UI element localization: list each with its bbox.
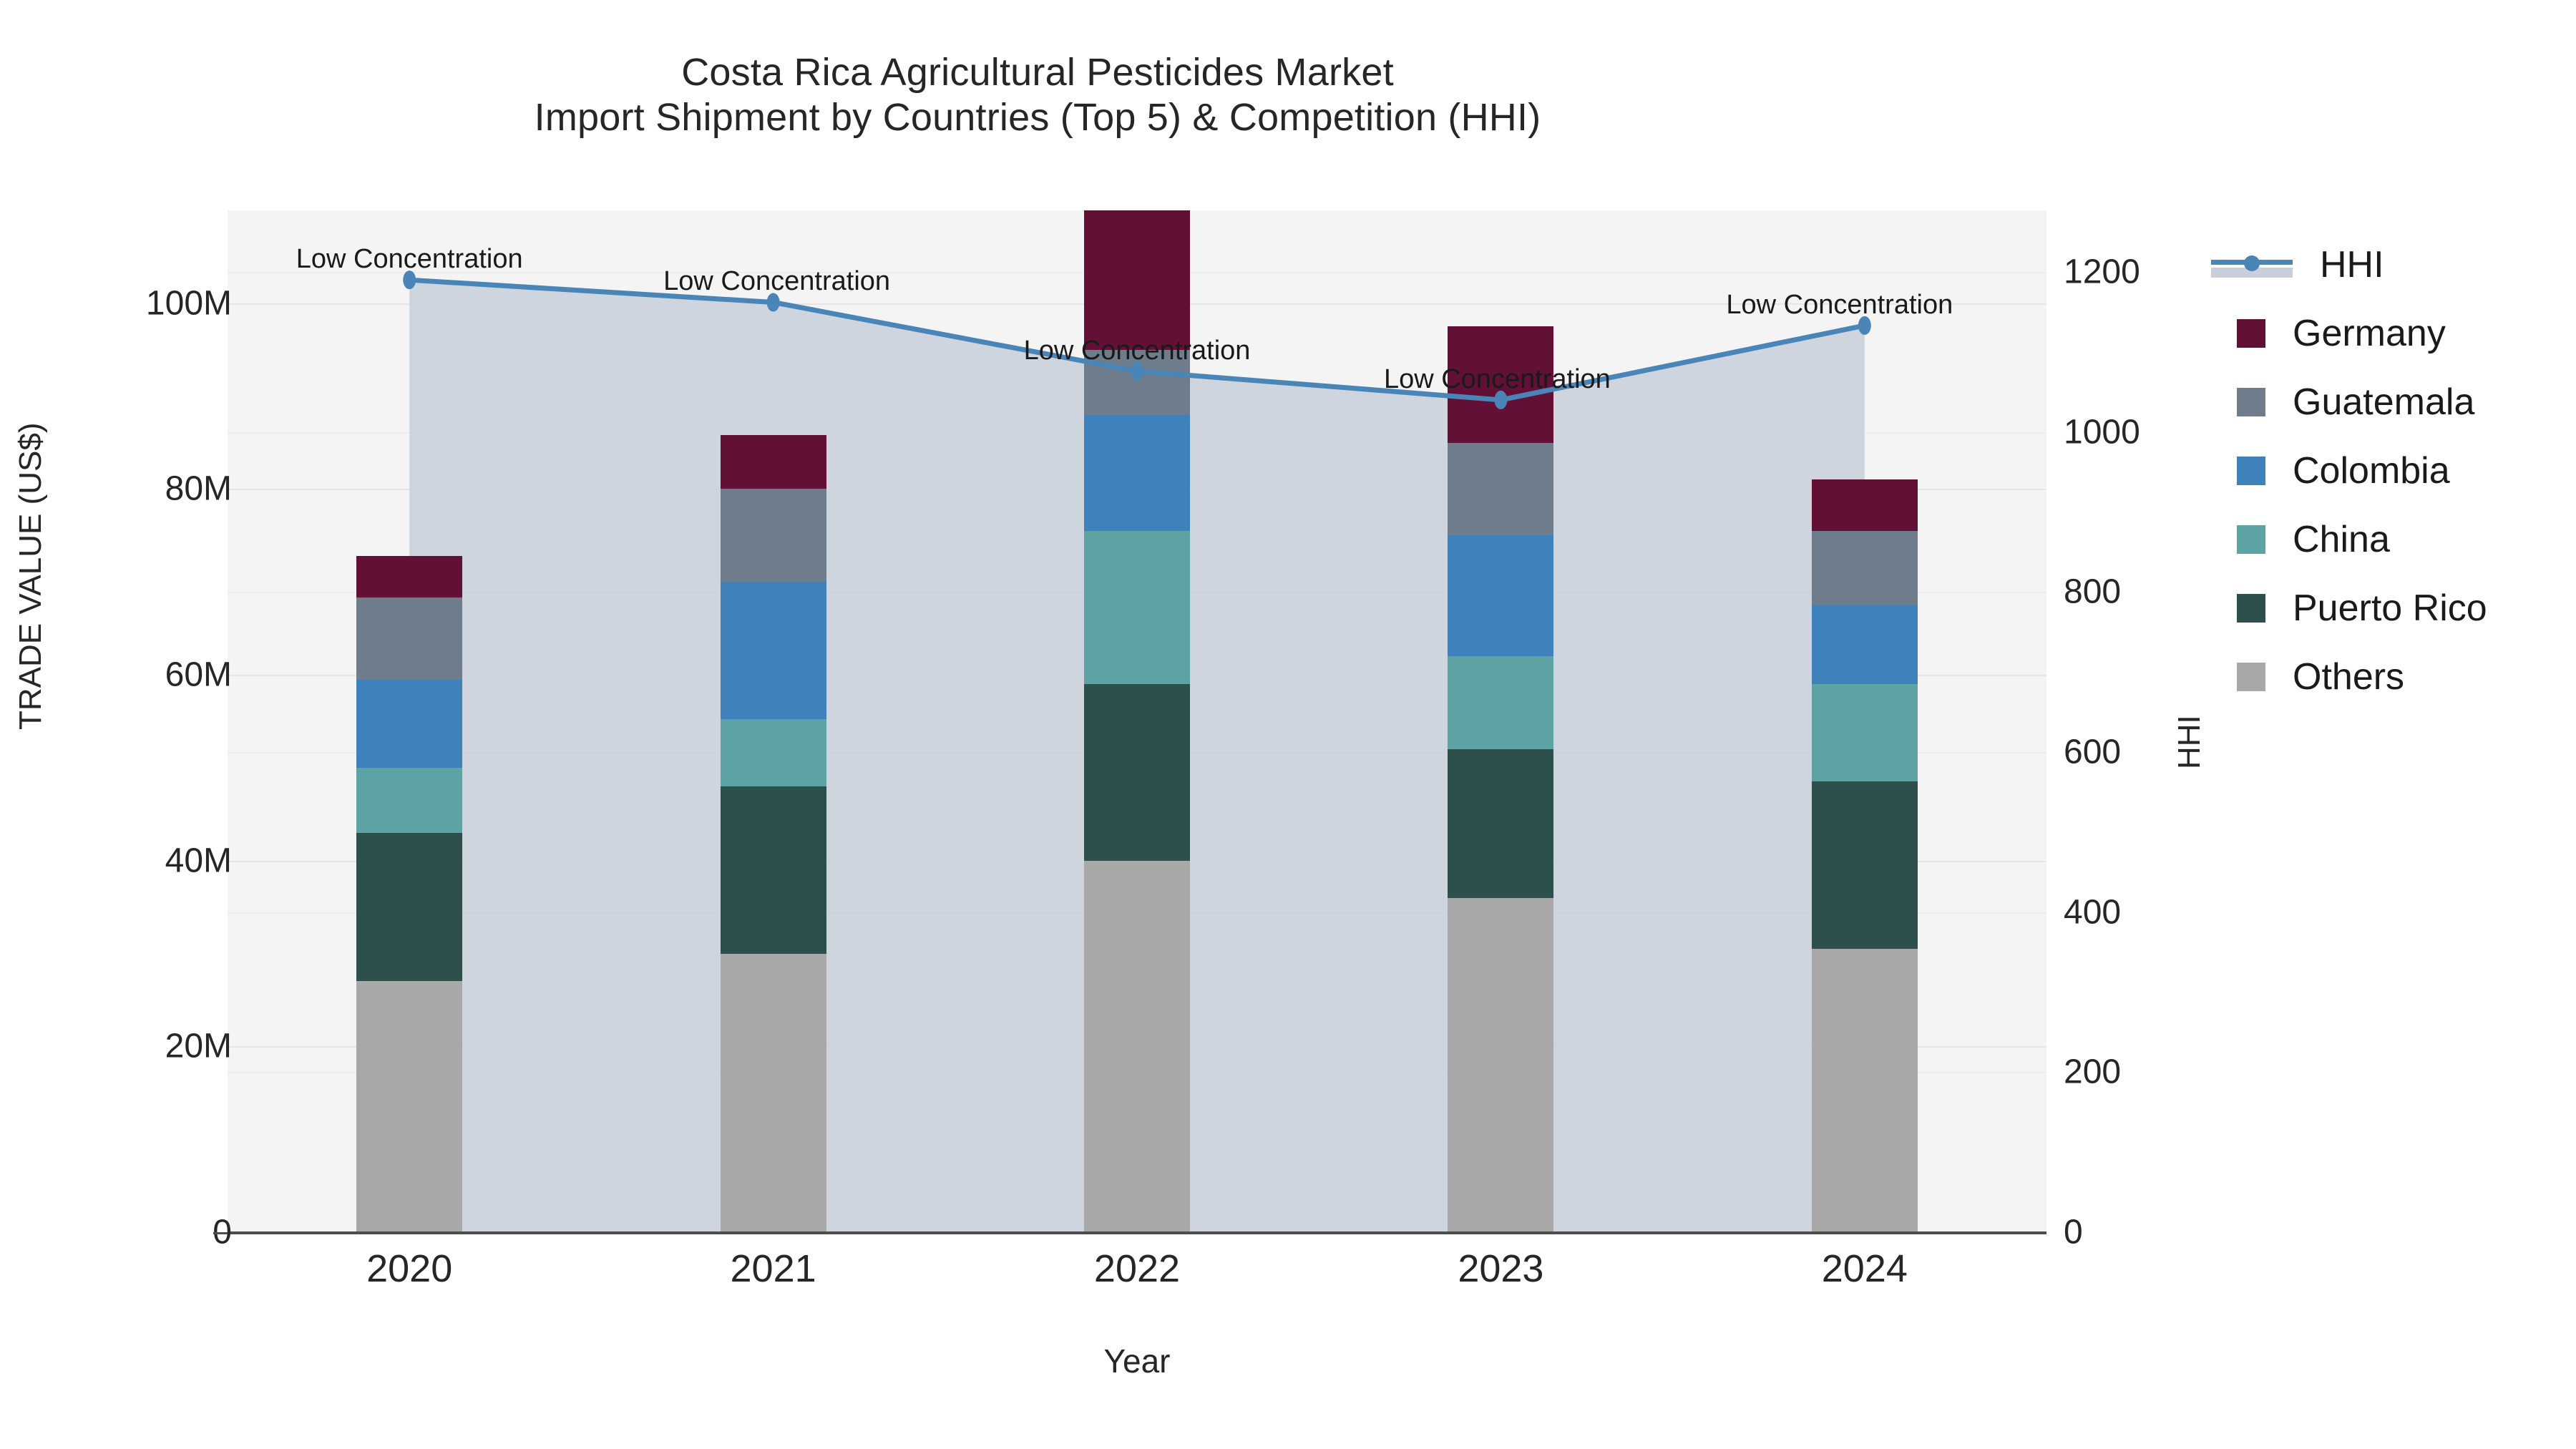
bar-segment[interactable] <box>1448 656 1553 749</box>
y-axis-right-tick-label: 400 <box>2064 892 2121 932</box>
bar-segment[interactable] <box>721 954 826 1232</box>
legend-color-swatch <box>2237 457 2265 485</box>
legend-item-label: Guatemala <box>2293 381 2474 424</box>
bar-segment[interactable] <box>356 680 462 768</box>
bar-stack[interactable] <box>356 210 462 1232</box>
chart-subtitle: Import Shipment by Countries (Top 5) & C… <box>0 95 2075 140</box>
bar-stack[interactable] <box>1812 210 1918 1232</box>
legend-color-swatch <box>2237 388 2265 416</box>
bar-segment[interactable] <box>721 786 826 954</box>
y-axis-right-tick-label: 800 <box>2064 572 2121 612</box>
bar-segment[interactable] <box>356 833 462 982</box>
bar-segment[interactable] <box>1448 898 1553 1232</box>
y-axis-left-tick-label: 20M <box>165 1027 232 1066</box>
chart-title: Costa Rica Agricultural Pesticides Marke… <box>0 50 2075 95</box>
legend-item-label: Colombia <box>2293 449 2450 492</box>
bar-segment[interactable] <box>1812 479 1918 530</box>
legend-item[interactable]: Guatemala <box>2211 368 2487 436</box>
y-axis-right-tick-label: 600 <box>2064 733 2121 772</box>
bar-segment[interactable] <box>721 489 826 582</box>
bar-segment[interactable] <box>1084 531 1190 684</box>
legend-item-label: Germany <box>2293 312 2446 355</box>
bar-segment[interactable] <box>721 719 826 786</box>
legend-color-swatch <box>2237 663 2265 691</box>
legend-item[interactable]: China <box>2211 505 2487 574</box>
y-axis-right-tick-label: 200 <box>2064 1053 2121 1092</box>
bar-segment[interactable] <box>1812 605 1918 684</box>
legend-color-swatch <box>2237 319 2265 348</box>
bar-segment[interactable] <box>1812 684 1918 781</box>
hhi-point-annotation: Low Concentration <box>1726 290 1953 321</box>
legend-item-label: Others <box>2293 655 2404 698</box>
hhi-point-annotation: Low Concentration <box>663 266 890 297</box>
legend: HHIGermanyGuatemalaColombiaChinaPuerto R… <box>2211 230 2487 711</box>
legend-item[interactable]: Germany <box>2211 299 2487 368</box>
bar-segment[interactable] <box>356 981 462 1232</box>
bar-segment[interactable] <box>1084 210 1190 350</box>
legend-item-label: HHI <box>2320 243 2384 286</box>
legend-line-icon <box>2211 250 2293 279</box>
x-axis-tick-label: 2020 <box>366 1246 452 1291</box>
bar-segment[interactable] <box>1084 415 1190 531</box>
bar-segment[interactable] <box>721 582 826 719</box>
legend-item-label: Puerto Rico <box>2293 587 2487 630</box>
legend-item-label: China <box>2293 518 2390 561</box>
y-axis-right-tick-label: 1200 <box>2064 253 2140 292</box>
x-axis-tick-label: 2023 <box>1458 1246 1543 1291</box>
x-axis-tick-label: 2022 <box>1094 1246 1180 1291</box>
legend-item[interactable]: Puerto Rico <box>2211 574 2487 643</box>
bar-segment[interactable] <box>721 435 826 489</box>
x-axis-line <box>228 1231 2046 1234</box>
legend-marker-dot <box>2244 255 2260 271</box>
bar-segment[interactable] <box>1448 535 1553 656</box>
bar-segment[interactable] <box>356 556 462 597</box>
legend-color-swatch <box>2237 594 2265 623</box>
x-axis-tick-label: 2021 <box>731 1246 816 1291</box>
plot-inner: Low ConcentrationLow ConcentrationLow Co… <box>228 210 2046 1232</box>
bar-segment[interactable] <box>1084 861 1190 1232</box>
chart-title-block: Costa Rica Agricultural Pesticides Marke… <box>0 50 2075 140</box>
hhi-point-annotation: Low Concentration <box>296 244 523 275</box>
bar-segment[interactable] <box>356 768 462 833</box>
chart-root: Costa Rica Agricultural Pesticides Marke… <box>0 0 2576 1449</box>
plot-area: Low ConcentrationLow ConcentrationLow Co… <box>228 210 2046 1232</box>
legend-color-swatch <box>2237 525 2265 554</box>
y-axis-left-tick-label: 100M <box>146 283 232 323</box>
bar-segment[interactable] <box>356 597 462 679</box>
y-axis-right-tick-label: 1000 <box>2064 412 2140 452</box>
y-axis-right-tick-label: 0 <box>2064 1213 2083 1252</box>
x-axis-tick-label: 2024 <box>1822 1246 1908 1291</box>
y-axis-right-title: HHI <box>2172 715 2207 769</box>
y-axis-left-tick-label: 60M <box>165 655 232 695</box>
y-axis-left-title: TRADE VALUE (US$) <box>13 423 49 731</box>
legend-item[interactable]: HHI <box>2211 230 2487 299</box>
bar-segment[interactable] <box>1084 684 1190 861</box>
x-axis-title: Year <box>1104 1342 1171 1380</box>
y-axis-left-tick-label: 40M <box>165 841 232 880</box>
y-axis-left-tick-mark <box>213 1232 228 1234</box>
legend-item[interactable]: Colombia <box>2211 436 2487 505</box>
bar-stack[interactable] <box>721 210 826 1232</box>
bar-segment[interactable] <box>1812 781 1918 949</box>
y-axis-left-tick-label: 80M <box>165 469 232 509</box>
hhi-point-annotation: Low Concentration <box>1384 364 1611 395</box>
legend-item[interactable]: Others <box>2211 643 2487 711</box>
hhi-point-annotation: Low Concentration <box>1024 336 1251 366</box>
bar-segment[interactable] <box>1812 949 1918 1232</box>
bar-segment[interactable] <box>1448 749 1553 898</box>
bar-segment[interactable] <box>1448 443 1553 536</box>
bar-segment[interactable] <box>1812 531 1918 605</box>
